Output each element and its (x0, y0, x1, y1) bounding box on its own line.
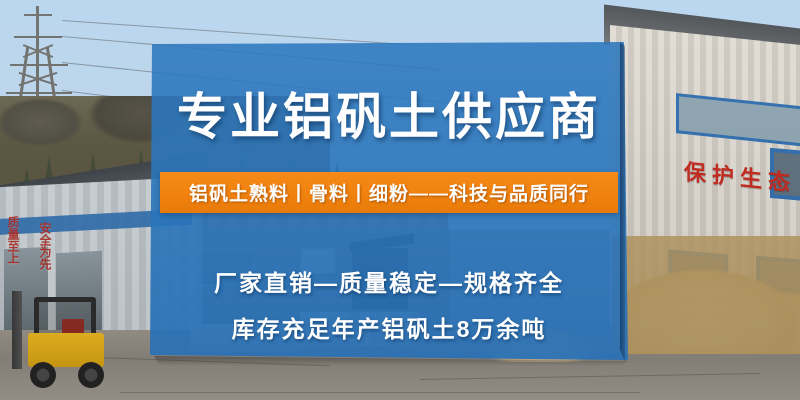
banner-subline-2: 库存充足年产铝矾土8万余吨 (150, 310, 628, 344)
ribbon-text: 铝矾土熟料丨骨料丨细粉——科技与品质同行 (189, 179, 589, 206)
orange-ribbon: 铝矾土熟料丨骨料丨细粉——科技与品质同行 (160, 172, 618, 213)
banner-headline: 专业铝矾土供应商 (150, 88, 628, 146)
banner-image: 质量至上 安全为先 保护生态 (0, 0, 800, 400)
banner-subline-1: 厂家直销—质量稳定—规格齐全 (150, 264, 628, 298)
banner-content: 专业铝矾土供应商 铝矾土熟料丨骨料丨细粉——科技与品质同行 厂家直销—质量稳定—… (150, 42, 630, 362)
